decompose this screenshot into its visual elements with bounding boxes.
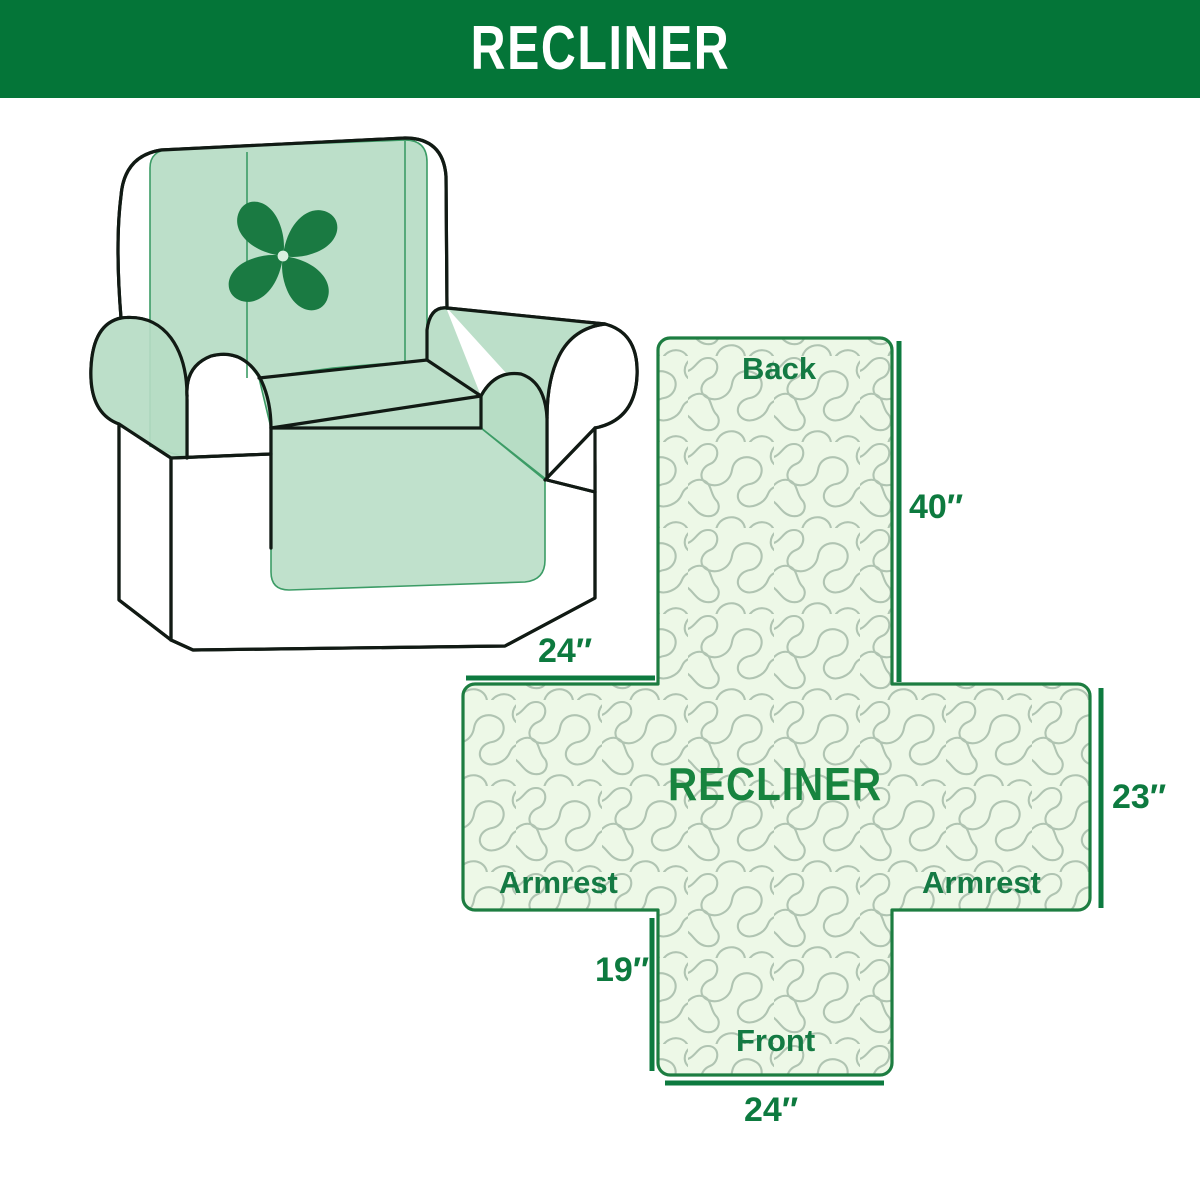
dimension-label-center-height: 23″ [1112, 780, 1166, 814]
dimension-label-back-height: 40″ [909, 490, 963, 524]
diagram-stage: Back Armrest Armrest Front RECLINER 40″ … [0, 98, 1200, 1200]
page-title: RECLINER [470, 18, 730, 80]
dimension-label-front-width: 24″ [744, 1093, 798, 1127]
panel-label-front: Front [736, 1025, 815, 1056]
dimension-label-front-height: 19″ [595, 953, 649, 987]
pattern-center-title: RECLINER [668, 761, 882, 807]
panel-label-armrest-right: Armrest [922, 867, 1041, 898]
panel-label-back: Back [742, 353, 816, 384]
cover-outline-shape [463, 338, 1090, 1075]
dimension-label-armrest-width: 24″ [538, 634, 592, 668]
cover-pattern-diagram [0, 98, 1200, 1200]
panel-label-armrest-left: Armrest [499, 867, 618, 898]
header-banner: RECLINER [0, 0, 1200, 98]
